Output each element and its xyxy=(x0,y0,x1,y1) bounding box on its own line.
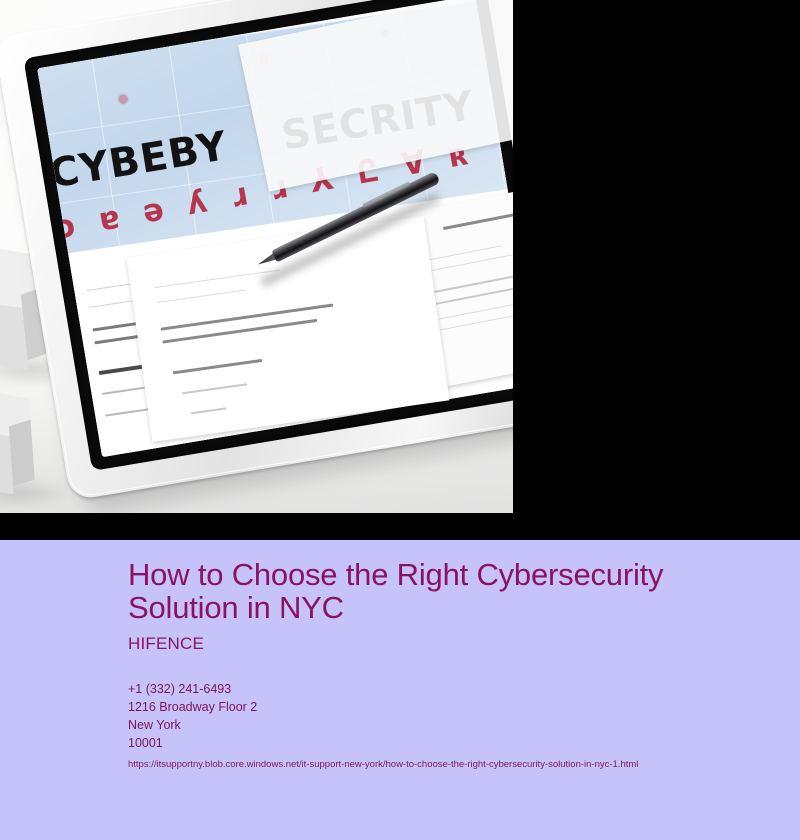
caption-content: How to Choose the Right Cybersecurity So… xyxy=(128,558,760,771)
contact-city: New York xyxy=(128,716,760,734)
hero-media-region: CYBEBY SECRITY ɔ ɐ ǝ ʎ ɹ ɹ ⅄ Ը Ɐ ʀ xyxy=(0,0,800,540)
caption-panel: How to Choose the Right Cybersecurity So… xyxy=(0,540,800,840)
contact-phone[interactable]: +1 (332) 241-6493 xyxy=(128,680,760,698)
paper-text-line xyxy=(182,384,248,395)
paper-text-line xyxy=(443,208,513,230)
paper-text-line xyxy=(191,407,227,414)
paper-text-line xyxy=(157,290,246,304)
contact-block: +1 (332) 241-6493 1216 Broadway Floor 2 … xyxy=(128,680,760,771)
brand-name: HIFENCE xyxy=(128,634,760,654)
product-photo: CYBEBY SECRITY ɔ ɐ ǝ ʎ ɹ ɹ ⅄ Ը Ɐ ʀ xyxy=(0,0,513,513)
contact-postal-code: 10001 xyxy=(128,734,760,752)
page-title: How to Choose the Right Cybersecurity So… xyxy=(128,558,728,624)
contact-street: 1216 Broadway Floor 2 xyxy=(128,698,760,716)
paper-text-line xyxy=(161,304,334,331)
source-url[interactable]: https://itsupportny.blob.core.windows.ne… xyxy=(128,758,760,771)
cube-shadow-lower xyxy=(0,478,66,508)
paper-text-line xyxy=(162,319,317,344)
paper-text-line xyxy=(173,359,263,374)
